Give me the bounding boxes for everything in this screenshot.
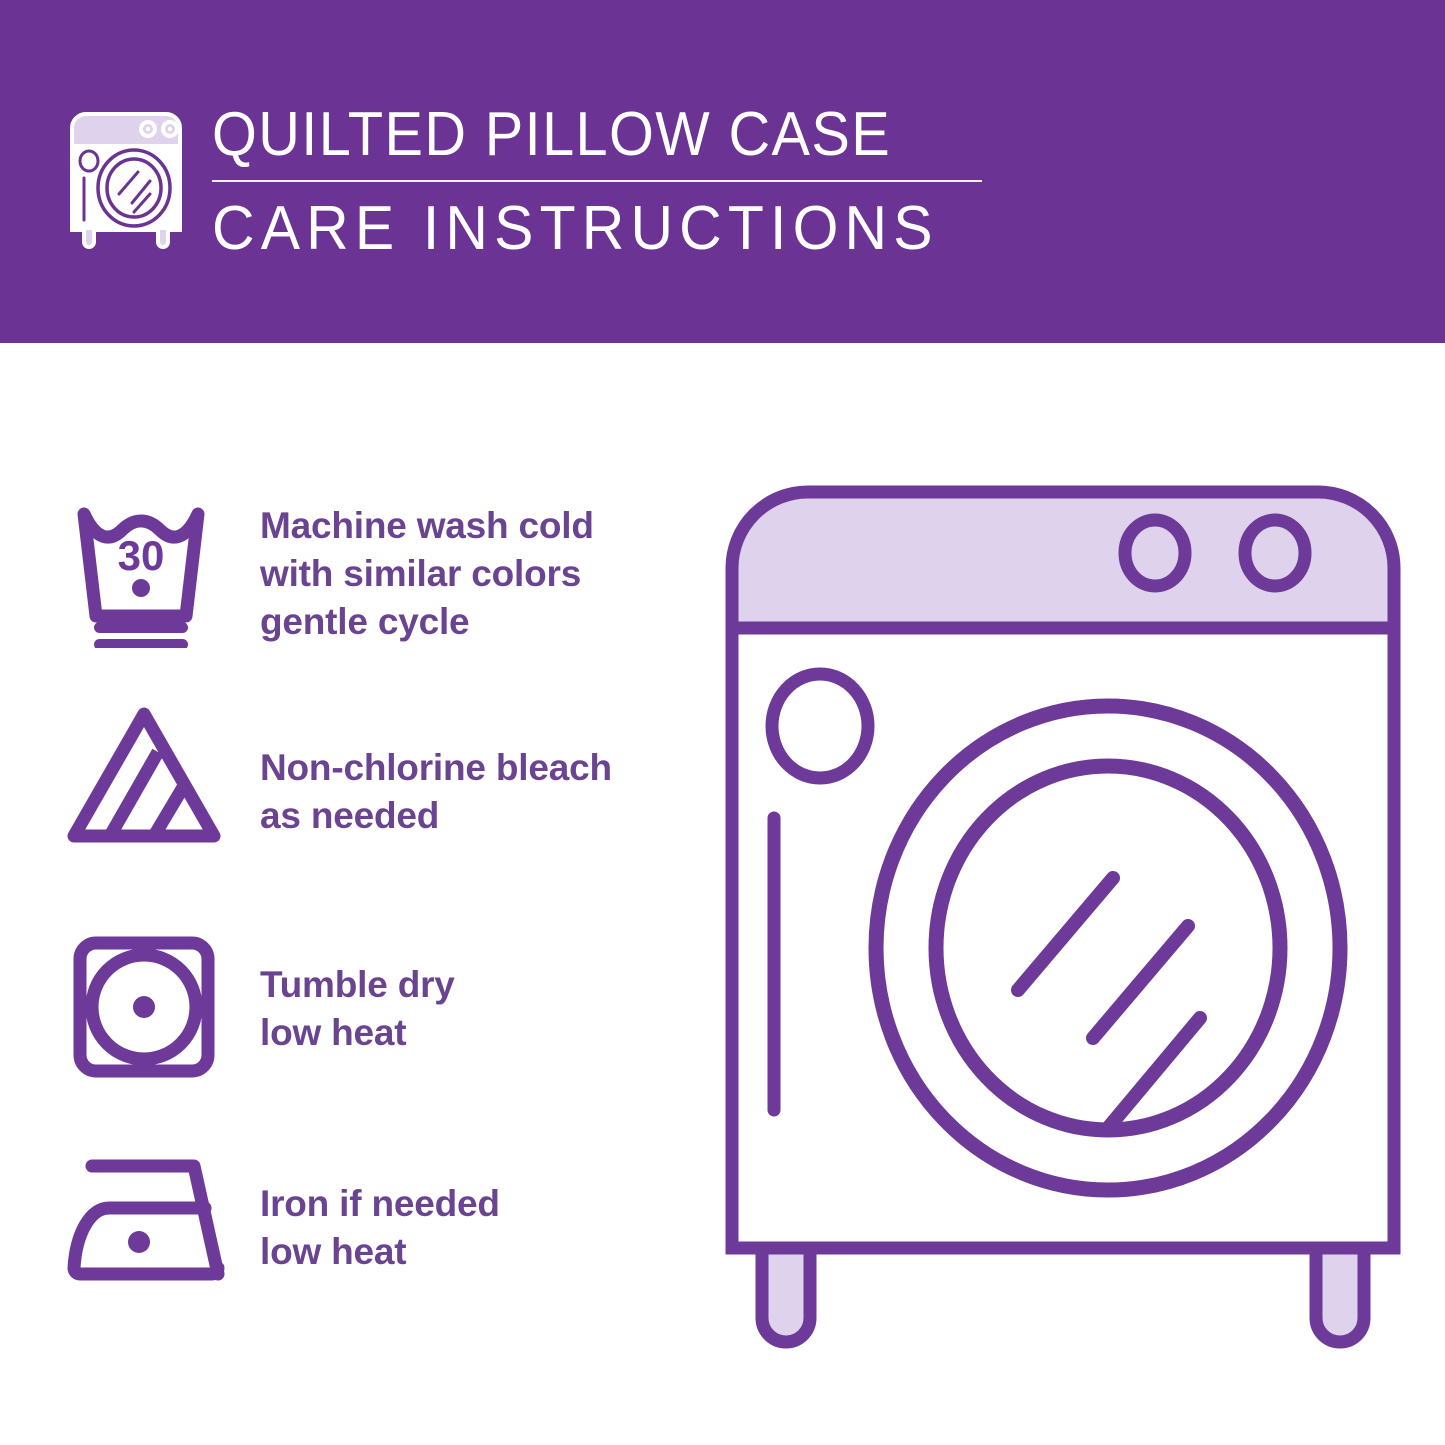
iron-icon: [66, 1150, 246, 1305]
bleach-triangle-icon: [66, 700, 246, 855]
care-row-bleach: Non-chlorine bleach as needed: [66, 700, 696, 855]
machine-dispenser-button: [772, 674, 868, 778]
care-label-bleach: Non-chlorine bleach as needed: [246, 700, 612, 840]
wash-tub-icon: 30: [66, 498, 246, 653]
machine-door-inner: [936, 766, 1280, 1130]
machine-knob-right: [1245, 520, 1305, 586]
machine-leg-left: [762, 1248, 810, 1342]
care-row-wash: 30 Machine wash cold with similar colors…: [66, 498, 696, 653]
tumble-dry-icon: [66, 935, 246, 1090]
machine-leg-right: [1316, 1248, 1364, 1342]
care-label-iron: Iron if needed low heat: [246, 1150, 500, 1276]
care-row-dry: Tumble dry low heat: [66, 935, 696, 1090]
title-divider: [212, 180, 982, 182]
header-band: QUILTED PILLOW CASE CARE INSTRUCTIONS: [0, 0, 1445, 343]
washing-machine-icon: [62, 100, 190, 250]
care-label-dry: Tumble dry low heat: [246, 935, 455, 1057]
machine-knob-left: [1125, 520, 1185, 586]
care-row-iron: Iron if needed low heat: [66, 1150, 696, 1305]
page-title: QUILTED PILLOW CASE: [212, 104, 947, 166]
wash-temp-label: 30: [118, 532, 165, 579]
page-subtitle: CARE INSTRUCTIONS: [212, 198, 963, 260]
care-instructions-infographic: QUILTED PILLOW CASE CARE INSTRUCTIONS 30…: [0, 0, 1445, 1445]
washing-machine-illustration: [718, 478, 1408, 1368]
header-text-block: QUILTED PILLOW CASE CARE INSTRUCTIONS: [212, 104, 1002, 260]
care-label-wash: Machine wash cold with similar colors ge…: [246, 498, 594, 646]
